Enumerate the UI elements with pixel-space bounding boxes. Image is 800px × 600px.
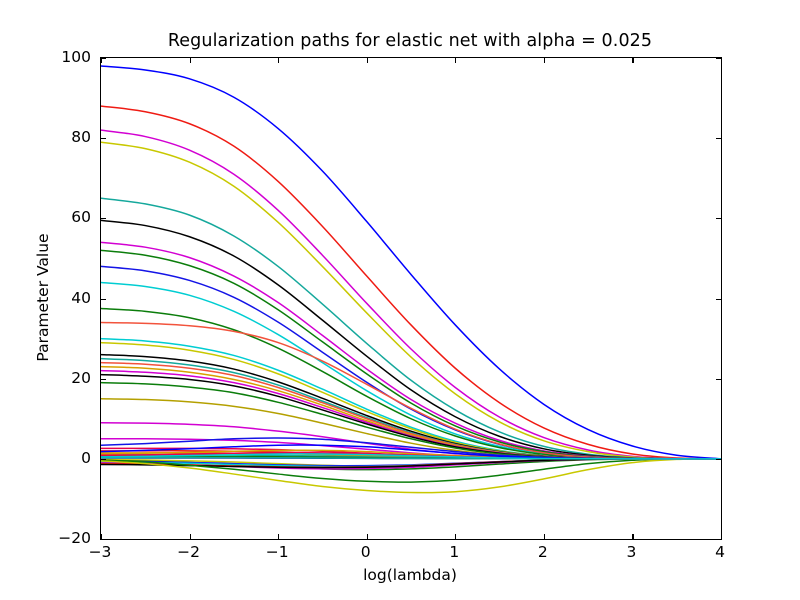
x-axis-label: log(lambda) (0, 566, 800, 584)
y-tick-mark (101, 379, 106, 380)
regularization-paths-plot (101, 58, 721, 539)
x-axis-label-text: log(lambda) (363, 566, 457, 584)
y-tick-mark (716, 299, 721, 300)
y-tick-mark (101, 459, 106, 460)
x-tick-mark (721, 58, 722, 63)
x-tick-mark (544, 534, 545, 539)
x-tick-label: −3 (89, 543, 112, 561)
x-tick-label: −2 (177, 543, 200, 561)
data-series-line (101, 220, 721, 459)
y-tick-mark (716, 539, 721, 540)
chart-title: Regularization paths for elastic net wit… (0, 31, 800, 51)
x-tick-mark (455, 58, 456, 63)
data-series-line (101, 266, 721, 458)
y-tick-mark (101, 138, 106, 139)
x-tick-mark (190, 58, 191, 63)
x-tick-mark (278, 58, 279, 63)
y-axis-label: Parameter Value (34, 57, 52, 538)
y-axis-label-text: Parameter Value (34, 233, 52, 361)
x-tick-mark (632, 534, 633, 539)
y-tick-mark (716, 58, 721, 59)
matplotlib-figure: Regularization paths for elastic net wit… (0, 0, 800, 600)
x-tick-mark (632, 58, 633, 63)
x-tick-mark (278, 534, 279, 539)
x-tick-label: 2 (538, 543, 548, 561)
plot-axes (100, 57, 722, 540)
x-tick-mark (367, 534, 368, 539)
y-tick-mark (101, 539, 106, 540)
data-series-line (101, 142, 721, 459)
x-tick-mark (544, 58, 545, 63)
x-tick-label: 0 (361, 543, 371, 561)
y-tick-mark (716, 218, 721, 219)
y-tick-mark (716, 459, 721, 460)
chart-title-text: Regularization paths for elastic net wit… (168, 31, 652, 51)
x-tick-label: 1 (449, 543, 459, 561)
x-tick-label: −1 (266, 543, 289, 561)
x-tick-label: 4 (715, 543, 725, 561)
x-tick-mark (455, 534, 456, 539)
x-tick-mark (190, 534, 191, 539)
y-tick-mark (101, 58, 106, 59)
x-tick-mark (367, 58, 368, 63)
y-tick-mark (101, 299, 106, 300)
data-series-line (101, 198, 721, 459)
y-tick-mark (716, 138, 721, 139)
y-tick-mark (716, 379, 721, 380)
x-tick-mark (721, 534, 722, 539)
y-tick-mark (101, 218, 106, 219)
x-tick-label: 3 (626, 543, 636, 561)
